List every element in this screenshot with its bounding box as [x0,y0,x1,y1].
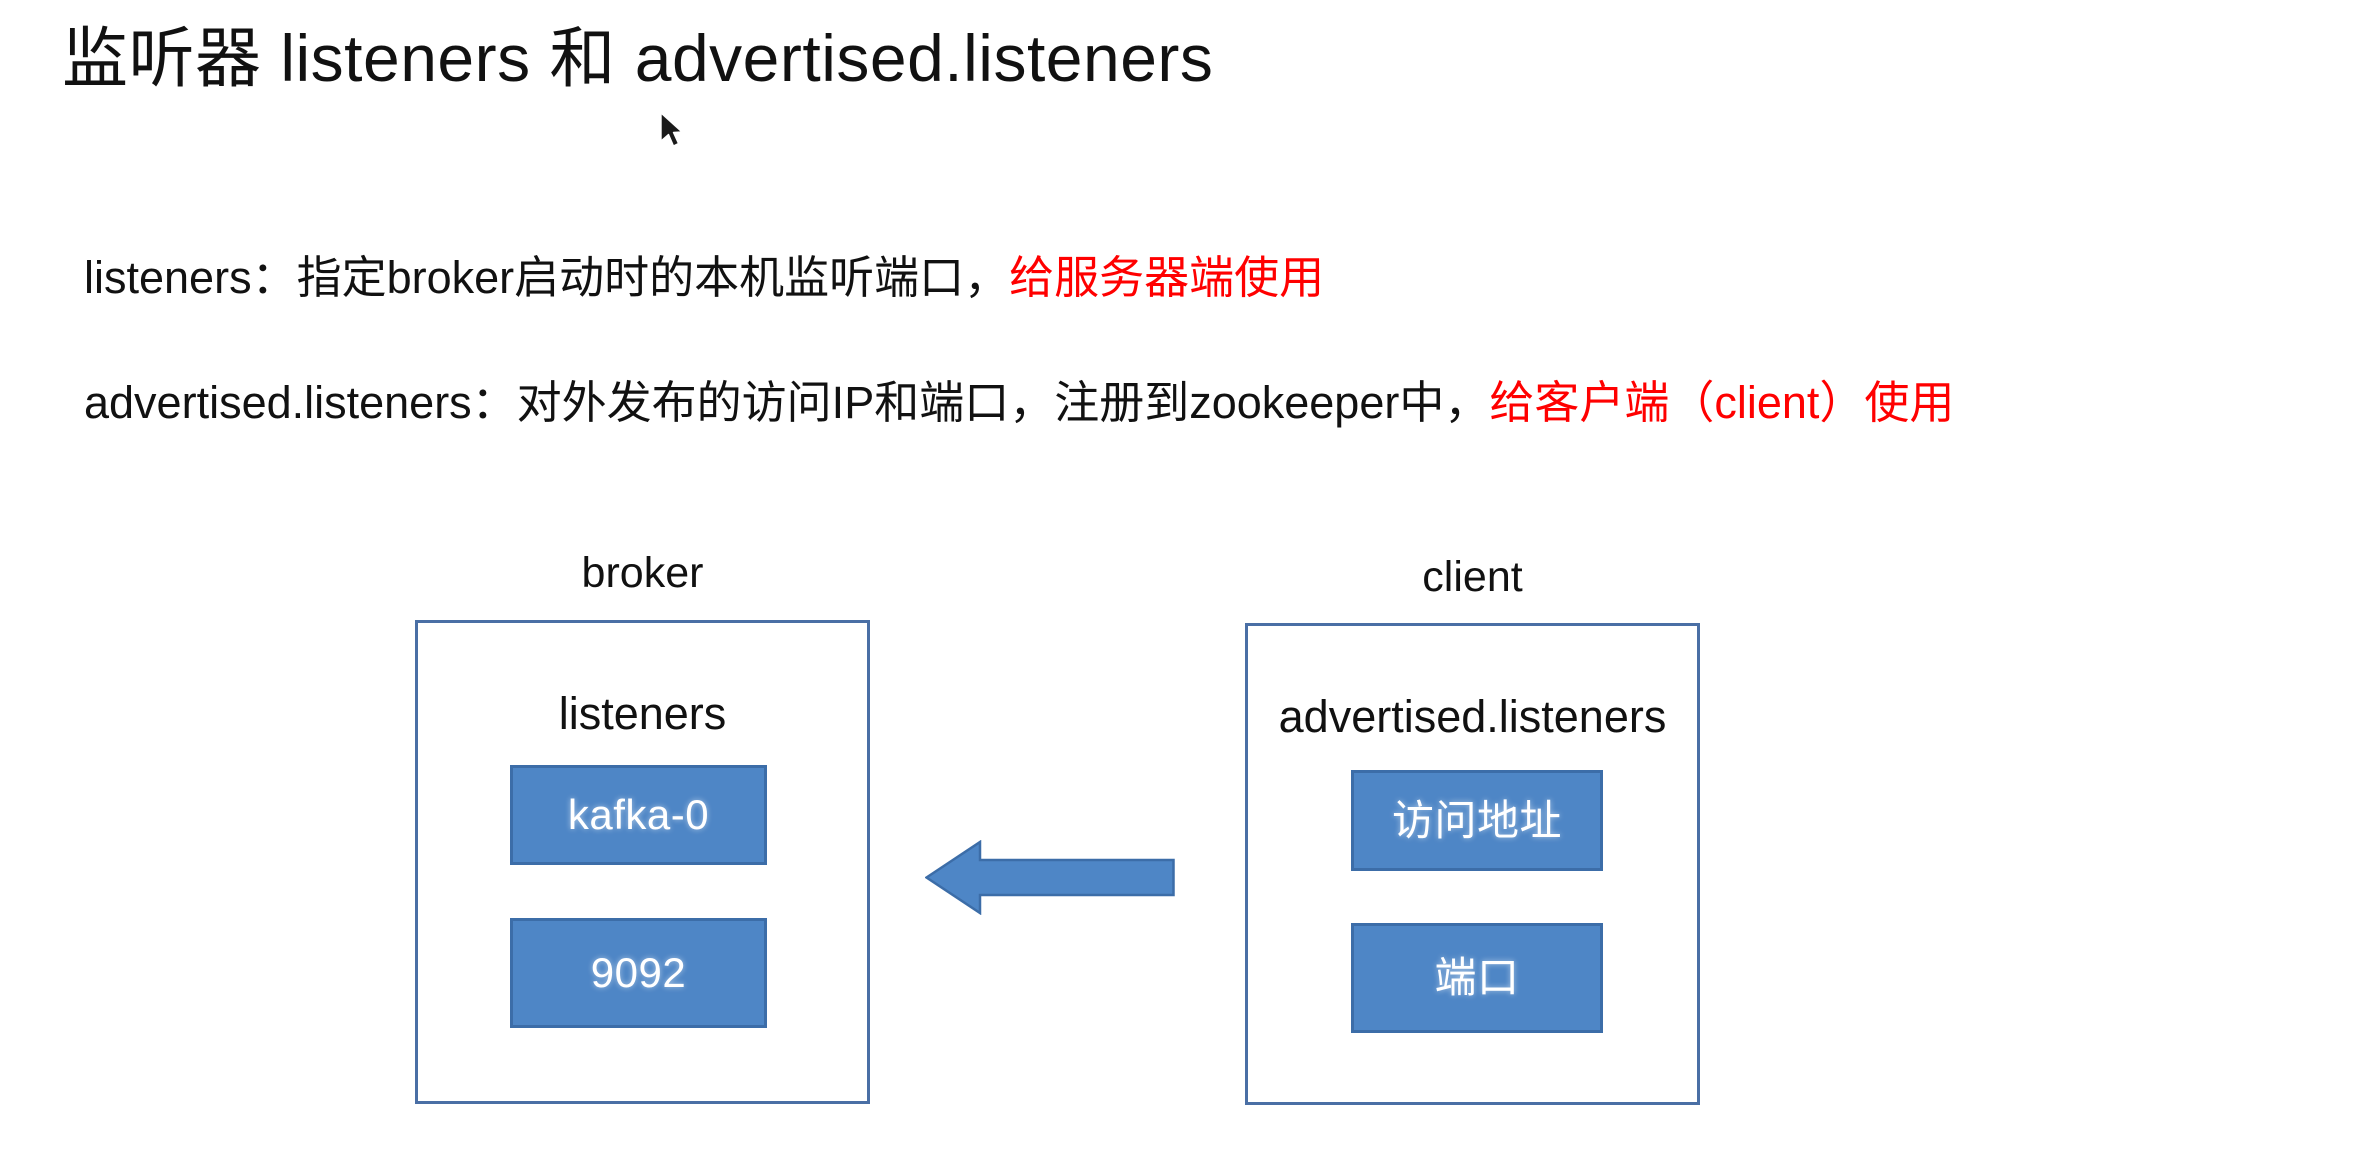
client-chip-address-label: 访问地址 [1392,800,1562,842]
listeners-diagram: broker listeners kafka-0 9092 client adv… [0,0,2373,1155]
description-line-listeners: listeners：指定broker启动时的本机监听端口，给服务器端使用 [84,252,1324,304]
broker-chip-host[interactable]: kafka-0 [510,765,767,865]
mouse-pointer-icon [659,112,685,150]
client-box: advertised.listeners 访问地址 端口 [1245,623,1700,1105]
client-chip-port-label: 端口 [1434,957,1519,999]
broker-chip-port[interactable]: 9092 [510,918,767,1028]
slide-canvas: 监听器 listeners 和 advertised.listeners lis… [0,0,2373,1155]
client-box-title: advertised.listeners [1279,694,1667,739]
client-chip-address[interactable]: 访问地址 [1351,770,1603,871]
broker-box: listeners kafka-0 9092 [415,620,870,1104]
arrow-shape [927,842,1174,913]
listeners-description-red: 给服务器端使用 [1009,252,1324,303]
description-line-advertised-listeners: advertised.listeners：对外发布的访问IP和端口，注册到zoo… [84,377,1954,429]
advertised-listeners-description-black: advertised.listeners：对外发布的访问IP和端口，注册到zoo… [84,377,1489,428]
cursor-arrow-shape [661,113,682,146]
broker-box-title: listeners [559,691,727,736]
client-to-broker-arrow [925,840,1175,915]
broker-chip-port-label: 9092 [591,952,686,994]
broker-chip-host-label: kafka-0 [568,794,709,836]
page-title: 监听器 listeners 和 advertised.listeners [62,22,1213,95]
advertised-listeners-description-red: 给客户端（client）使用 [1489,377,1954,428]
client-caption: client [1245,556,1700,599]
client-chip-port[interactable]: 端口 [1351,923,1603,1033]
broker-caption: broker [415,552,870,595]
listeners-description-black: listeners：指定broker启动时的本机监听端口， [84,252,1009,303]
